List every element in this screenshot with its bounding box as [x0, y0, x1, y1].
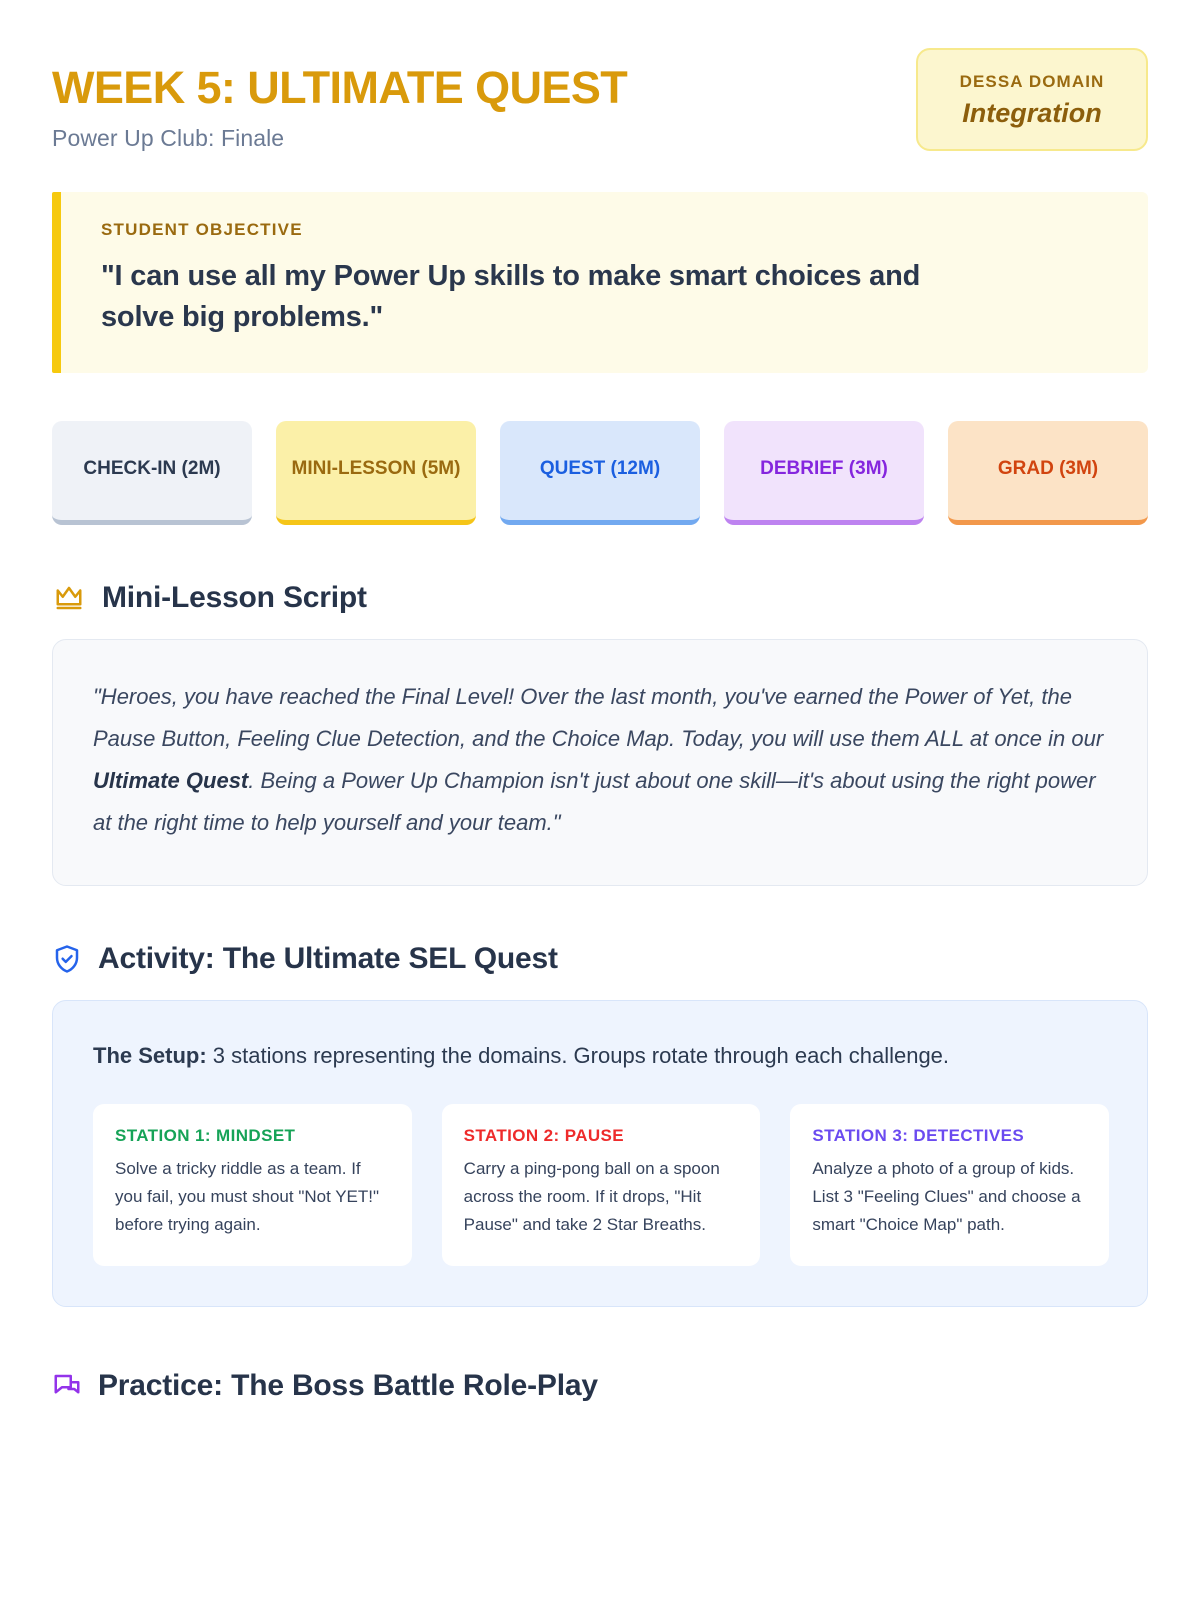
station-title: STATION 1: MINDSET: [115, 1126, 390, 1146]
activity-setup-text: 3 stations representing the domains. Gro…: [207, 1043, 949, 1068]
lesson-plan-page: WEEK 5: ULTIMATE QUEST Power Up Club: Fi…: [0, 0, 1200, 1600]
chip-quest[interactable]: QUEST (12M): [500, 421, 700, 525]
chip-debrief[interactable]: DEBRIEF (3M): [724, 421, 924, 525]
student-objective-label: STUDENT OBJECTIVE: [101, 220, 1110, 240]
dessa-domain-badge: DESSA DOMAIN Integration: [916, 48, 1148, 151]
mini-lesson-heading: Mini-Lesson Script: [102, 581, 367, 615]
chip-debrief-label: DEBRIEF (3M): [760, 455, 888, 484]
chip-check-in[interactable]: CHECK-IN (2M): [52, 421, 252, 525]
station-card-list: STATION 1: MINDSET Solve a tricky riddle…: [93, 1104, 1109, 1265]
station-description: Carry a ping-pong ball on a spoon across…: [464, 1155, 739, 1239]
station-title: STATION 3: DETECTIVES: [812, 1126, 1087, 1146]
station-card: STATION 2: PAUSE Carry a ping-pong ball …: [442, 1104, 761, 1265]
activity-setup-label: The Setup:: [93, 1043, 207, 1068]
script-bold-term: Ultimate Quest: [93, 768, 248, 793]
station-card: STATION 3: DETECTIVES Analyze a photo of…: [790, 1104, 1109, 1265]
chip-grad-label: GRAD (3M): [998, 455, 1098, 484]
mini-lesson-script-box: "Heroes, you have reached the Final Leve…: [52, 639, 1148, 886]
station-card: STATION 1: MINDSET Solve a tricky riddle…: [93, 1104, 412, 1265]
domain-badge-value: Integration: [944, 98, 1120, 129]
chip-check-in-label: CHECK-IN (2M): [83, 455, 220, 484]
crown-icon: [52, 583, 86, 613]
station-description: Solve a tricky riddle as a team. If you …: [115, 1155, 390, 1239]
chip-grad[interactable]: GRAD (3M): [948, 421, 1148, 525]
page-subtitle: Power Up Club: Finale: [52, 125, 627, 152]
chip-mini-lesson[interactable]: MINI-LESSON (5M): [276, 421, 476, 525]
activity-section-header: Activity: The Ultimate SEL Quest: [52, 942, 1148, 976]
activity-heading: Activity: The Ultimate SEL Quest: [98, 942, 558, 976]
student-objective-panel: STUDENT OBJECTIVE "I can use all my Powe…: [52, 192, 1148, 372]
header-text-group: WEEK 5: ULTIMATE QUEST Power Up Club: Fi…: [52, 48, 627, 152]
chip-mini-lesson-label: MINI-LESSON (5M): [292, 455, 461, 484]
mini-lesson-section-header: Mini-Lesson Script: [52, 581, 1148, 615]
activity-setup: The Setup: 3 stations representing the d…: [93, 1037, 1109, 1075]
page-title: WEEK 5: ULTIMATE QUEST: [52, 64, 627, 111]
domain-badge-label: DESSA DOMAIN: [944, 72, 1120, 92]
chip-quest-label: QUEST (12M): [540, 455, 660, 484]
lesson-timing-chips: CHECK-IN (2M) MINI-LESSON (5M) QUEST (12…: [52, 421, 1148, 525]
station-description: Analyze a photo of a group of kids. List…: [812, 1155, 1087, 1239]
practice-heading: Practice: The Boss Battle Role-Play: [98, 1369, 598, 1403]
mini-lesson-script-text: "Heroes, you have reached the Final Leve…: [93, 676, 1107, 845]
shield-check-icon: [52, 943, 82, 975]
practice-section-header: Practice: The Boss Battle Role-Play: [52, 1369, 1148, 1403]
script-part-1: "Heroes, you have reached the Final Leve…: [93, 684, 1103, 751]
chat-bubbles-icon: [52, 1370, 82, 1402]
activity-box: The Setup: 3 stations representing the d…: [52, 1000, 1148, 1307]
page-header: WEEK 5: ULTIMATE QUEST Power Up Club: Fi…: [52, 48, 1148, 152]
student-objective-text: "I can use all my Power Up skills to mak…: [101, 256, 1001, 338]
station-title: STATION 2: PAUSE: [464, 1126, 739, 1146]
